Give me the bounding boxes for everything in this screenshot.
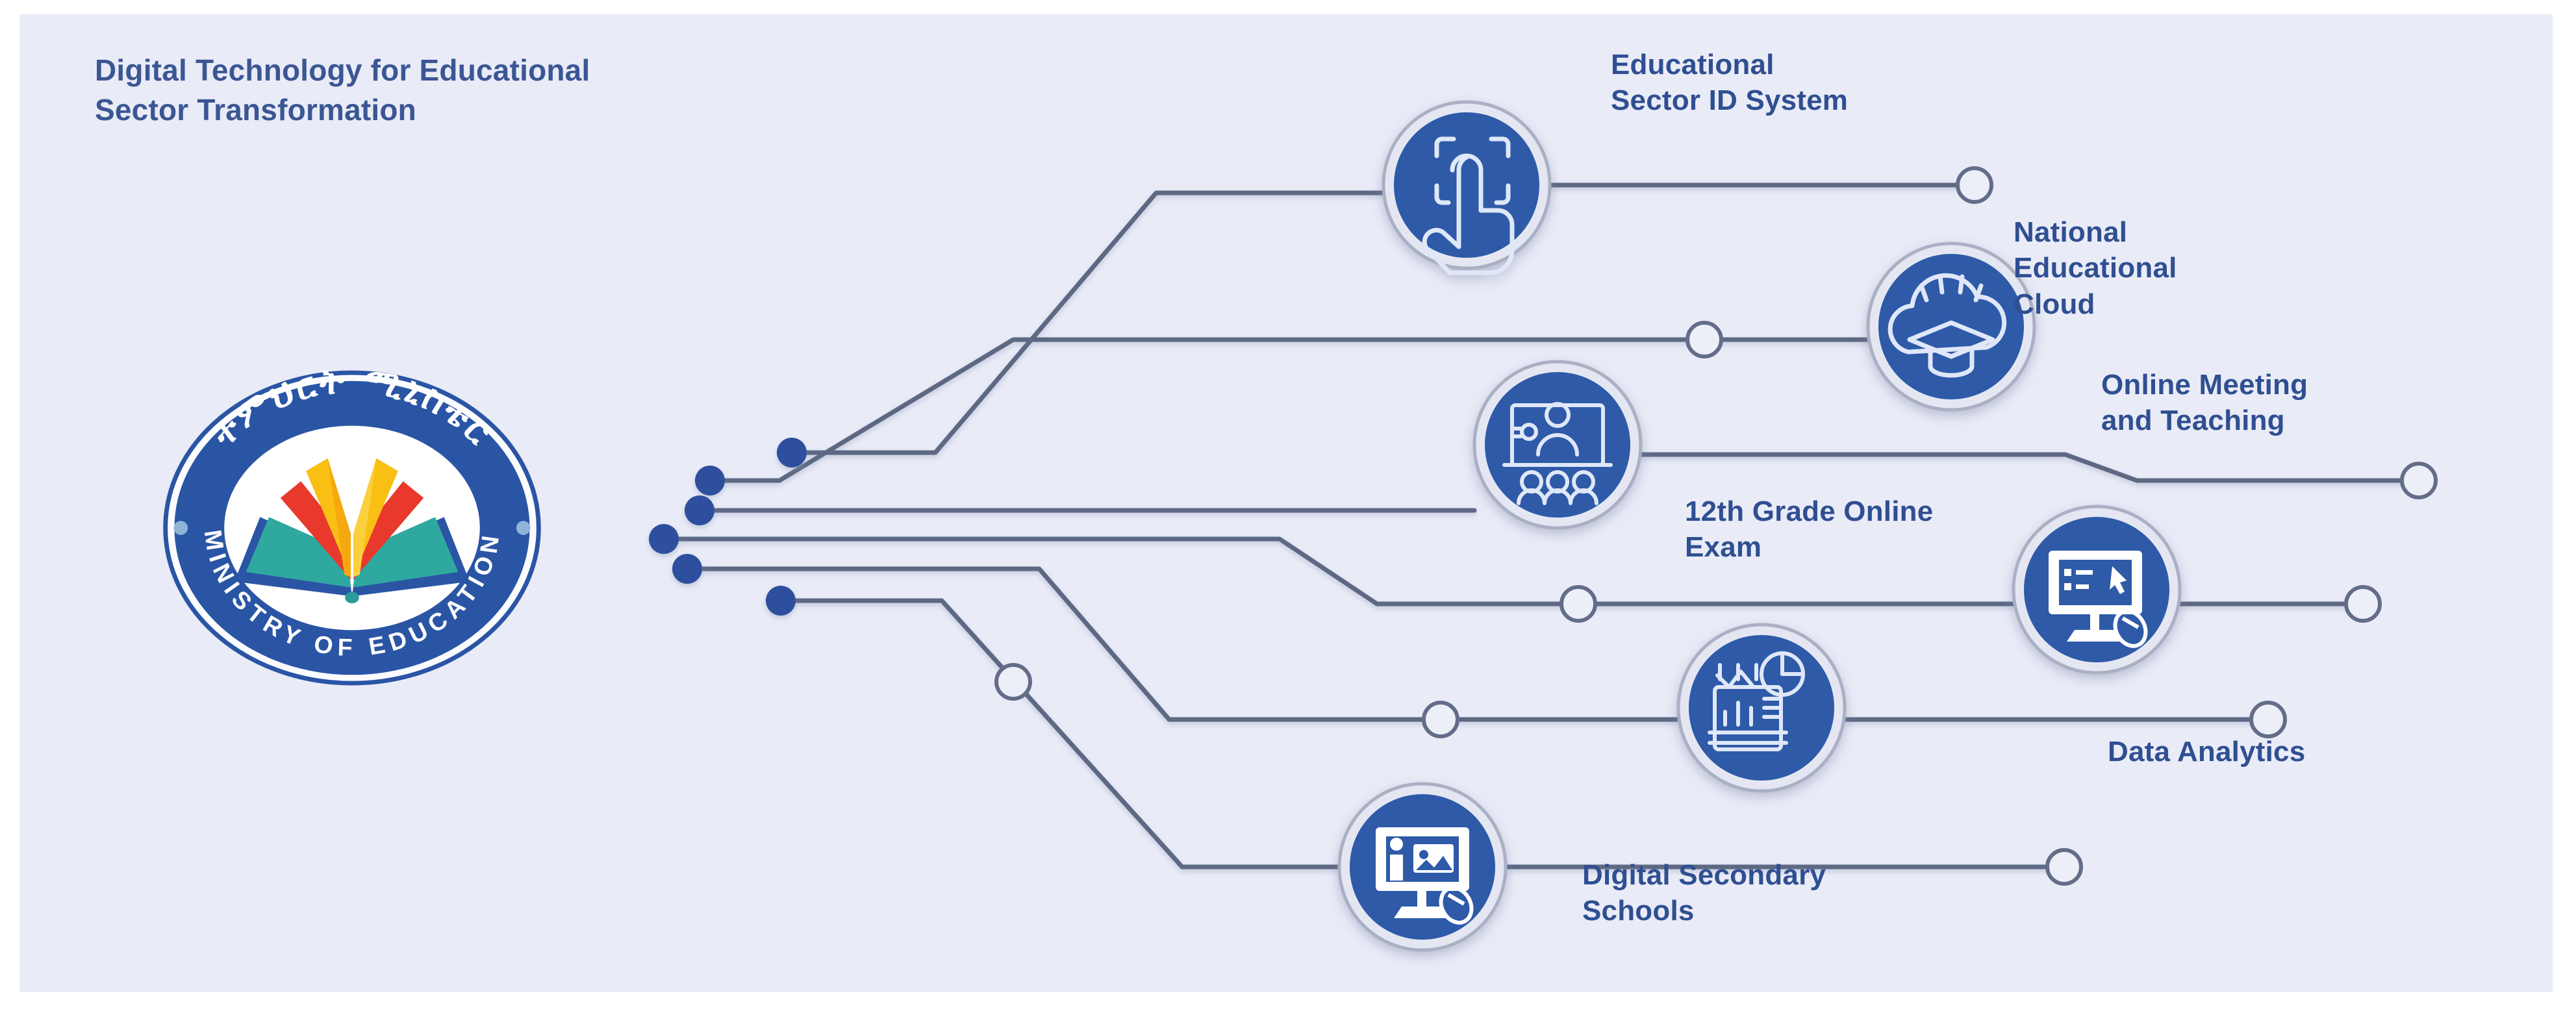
source-dot-3: [685, 495, 714, 525]
node-disc: [1394, 112, 1539, 258]
endpoint-schools-mid: [996, 665, 1030, 699]
endpoint-meeting: [2402, 464, 2436, 497]
source-dot-4: [649, 524, 679, 554]
avatar: ትምህርት ሚኒስቴር MINISTRY OF EDUCATION: [109, 369, 595, 687]
endpoint-analytics-right: [2251, 703, 2285, 736]
endpoint-exam-right: [2346, 587, 2380, 621]
endpoint-analytics-left: [1424, 703, 1458, 736]
source-dot-5: [672, 554, 702, 584]
node-label-national-educational-cloud: National Educational Cloud: [2014, 214, 2351, 322]
node-label-online-meeting-and-teaching: Online Meeting and Teaching: [2101, 367, 2517, 439]
node-educational-sector-id-system[interactable]: [1383, 102, 1550, 273]
node-digital-secondary-schools[interactable]: [1339, 784, 1506, 950]
node-data-analytics[interactable]: [1678, 625, 1845, 791]
ministry-of-education-seal: ትምህርት ሚኒስቴር MINISTRY OF EDUCATION: [109, 369, 595, 687]
source-dot-1: [777, 438, 807, 468]
trace-meeting-out: [1641, 455, 2419, 481]
page-title-line-1: Digital Technology for Educational: [95, 51, 809, 90]
trace-to-id-system: [792, 193, 1383, 453]
node-label-educational-sector-id-system: Educational Sector ID System: [1611, 47, 2065, 119]
source-dot-2: [695, 466, 725, 495]
trace-to-schools: [781, 601, 1339, 867]
node-national-educational-cloud[interactable]: [1868, 244, 2034, 410]
endpoint-exam-left: [1561, 587, 1595, 621]
node-disc: [1689, 635, 1834, 781]
endpoint-id-system: [1958, 168, 1991, 202]
seal-dot-right: [516, 521, 531, 535]
seal-dot-left: [173, 521, 188, 535]
node-label-12th-grade-online-exam: 12th Grade Online Exam: [1685, 494, 2101, 566]
source-dots-group: [649, 438, 807, 616]
node-label-digital-secondary-schools: Digital Secondary Schools: [1582, 857, 2024, 929]
infographic-root: ትምህርት ሚኒስቴር MINISTRY OF EDUCATION: [0, 0, 2576, 1013]
endpoint-schools-right: [2047, 850, 2081, 884]
node-disc: [1485, 372, 1630, 518]
page-title: Digital Technology for Educational Secto…: [95, 51, 809, 129]
source-dot-6: [766, 586, 796, 616]
endpoint-cloud-in: [1687, 323, 1721, 356]
node-online-meeting-and-teaching[interactable]: [1474, 362, 1641, 528]
node-label-data-analytics: Data Analytics: [2108, 734, 2510, 769]
trace-to-exam: [664, 539, 1578, 604]
trace-to-analytics: [687, 569, 1441, 719]
page-title-line-2: Sector Transformation: [95, 90, 809, 130]
